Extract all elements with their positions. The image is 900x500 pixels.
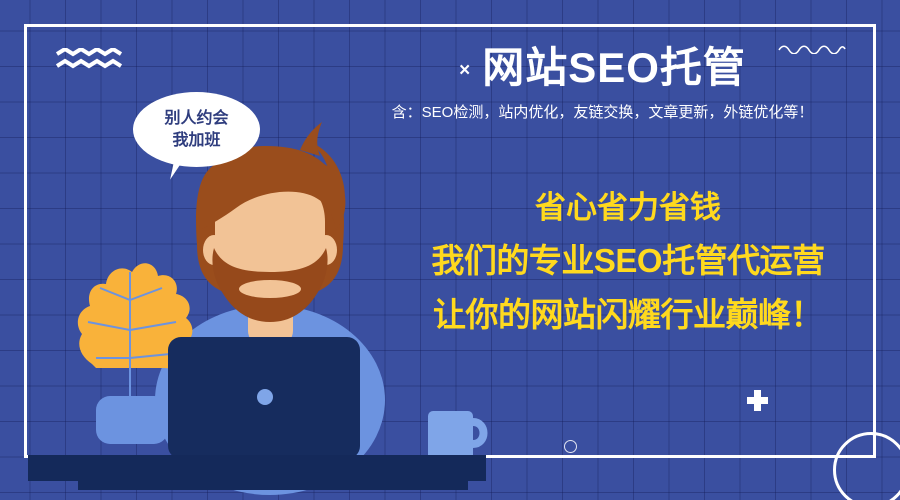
headline-block: × 网站SEO托管 含：SEO检测，站内优化，友链交换，文章更新，外链优化等！ [330, 44, 875, 122]
page-title: 网站SEO托管 [482, 44, 746, 91]
speech-bubble-line-2: 我加班 [172, 130, 220, 152]
title-row: × 网站SEO托管 [330, 44, 875, 91]
plus-icon [747, 390, 768, 411]
small-circle-icon [564, 440, 577, 453]
slogan-line-2: 我们的专业SEO托管代运营 [372, 244, 884, 277]
speech-bubble: 别人约会 我加班 [133, 92, 260, 167]
speech-bubble-line-1: 别人约会 [164, 108, 228, 130]
seo-banner: × 网站SEO托管 含：SEO检测，站内优化，友链交换，文章更新，外链优化等！ … [0, 0, 900, 500]
slogan-line-1: 省心省力省钱 [372, 192, 884, 223]
x-mark-icon: × [459, 55, 470, 80]
double-wave-icon [56, 48, 122, 70]
slogan-block: 省心省力省钱 我们的专业SEO托管代运营 让你的网站闪耀行业巅峰！ [372, 192, 884, 331]
headline-subtitle: 含：SEO检测，站内优化，友链交换，文章更新，外链优化等！ [330, 101, 875, 122]
slogan-line-3: 让你的网站闪耀行业巅峰！ [372, 298, 884, 331]
